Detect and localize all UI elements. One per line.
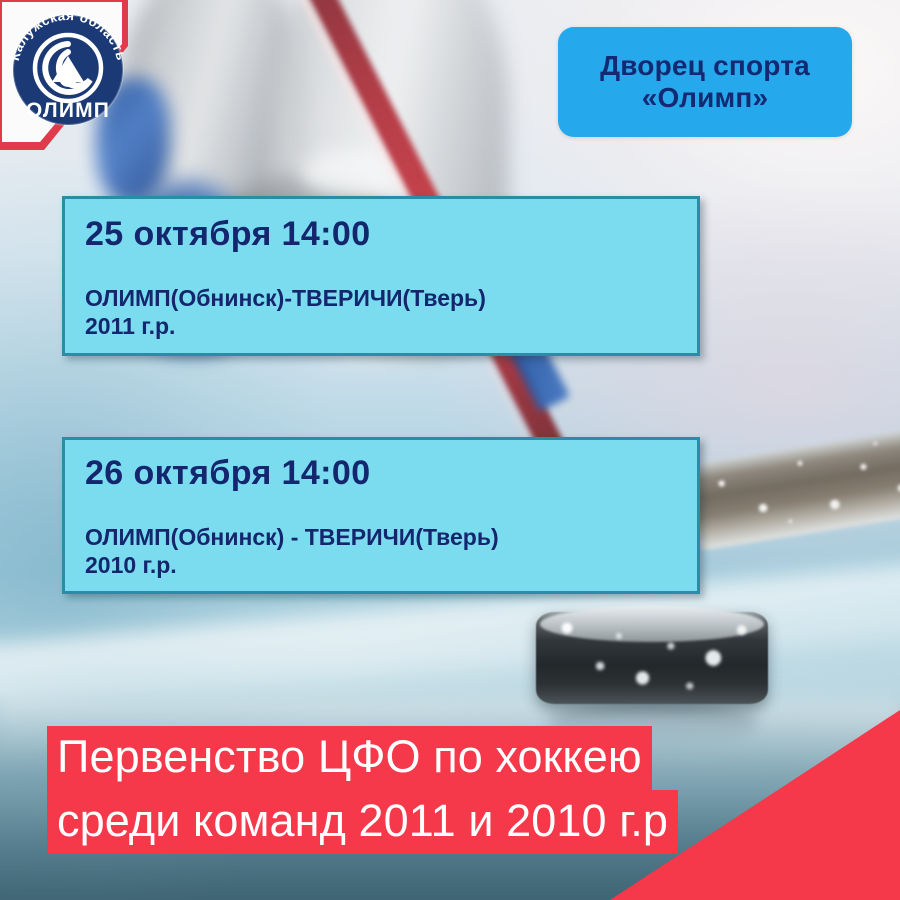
match-age-group: 2011 г.р.	[85, 312, 697, 340]
venue-name-line-2: «Олимп»	[642, 82, 769, 114]
match-date-time: 26 октября 14:00	[85, 454, 697, 493]
event-title-banner: Первенство ЦФО по хоккею среди команд 20…	[47, 726, 678, 854]
match-teams: ОЛИМП(Обнинск) - ТВЕРИЧИ(Тверь)	[85, 523, 697, 551]
match-teams: ОЛИМП(Обнинск)-ТВЕРИЧИ(Тверь)	[85, 284, 697, 312]
match-card: 25 октября 14:00 ОЛИМП(Обнинск)-ТВЕРИЧИ(…	[62, 196, 700, 356]
match-teams-block: ОЛИМП(Обнинск) - ТВЕРИЧИ(Тверь) 2010 г.р…	[85, 523, 697, 579]
match-age-group: 2010 г.р.	[85, 551, 697, 579]
event-title-line-1: Первенство ЦФО по хоккею	[47, 726, 652, 790]
venue-badge: Дворец спорта «Олимп»	[558, 27, 852, 137]
event-poster: Калужская область ОЛИМП Дворец спорта «О…	[0, 0, 900, 900]
match-card: 26 октября 14:00 ОЛИМП(Обнинск) - ТВЕРИЧ…	[62, 437, 700, 594]
venue-name-line-1: Дворец спорта	[600, 50, 810, 82]
event-title-line-2: среди команд 2011 и 2010 г.р	[47, 790, 678, 854]
olimp-logo-badge: Калужская область ОЛИМП	[0, 0, 136, 175]
match-date-time: 25 октября 14:00	[85, 215, 697, 254]
match-teams-block: ОЛИМП(Обнинск)-ТВЕРИЧИ(Тверь) 2011 г.р.	[85, 284, 697, 340]
logo-bottom-text: ОЛИМП	[26, 99, 110, 122]
